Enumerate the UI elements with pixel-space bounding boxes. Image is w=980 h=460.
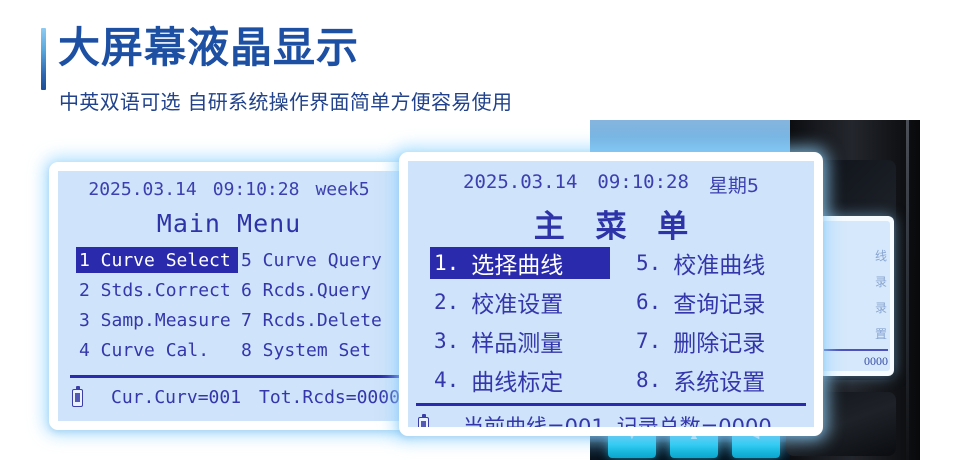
menu-item-label: 样品测量 [471, 324, 563, 358]
menu-item-label: 查询记录 [673, 285, 765, 319]
menu-item-number: 7. [636, 329, 661, 353]
promo-banner: 大屏幕液晶显示 中英双语可选 自研系统操作界面简单方便容易使用 ▼ ▲ ◄ 测定… [0, 0, 980, 460]
menu-item-label: 校准设置 [471, 285, 563, 319]
lcd-cn-total-records: 记录总数=0000 [617, 411, 772, 427]
background-lcd-area: 线 录 录 置 0000 [822, 221, 890, 371]
background-lcd-screen: 线 录 录 置 0000 [818, 216, 894, 376]
lcd-en-menu-row: 3 Samp.Measure 7 Rcds.Delete [58, 307, 400, 337]
background-lcd-line-4: 置 [875, 325, 887, 342]
lcd-cn-menu-row: 2. 校准设置 6. 查询记录 [408, 286, 814, 325]
lcd-display-area-english: 2025.03.14 09:10:28 week5 Main Menu 1 Cu… [58, 171, 400, 421]
menu-item-label: 曲线标定 [471, 363, 563, 397]
lcd-en-heading: Main Menu [58, 209, 400, 238]
lcd-en-statusbar: 2025.03.14 09:10:28 week5 [58, 179, 400, 200]
lcd-en-date: 2025.03.14 [88, 179, 196, 200]
battery-icon [72, 389, 83, 407]
menu-item-number: 5. [636, 251, 661, 275]
lcd-cn-menu-row: 4. 曲线标定 8. 系统设置 [408, 364, 814, 403]
lcd-en-menu: 1 Curve Select 5 Curve Query 2 Stds.Corr… [58, 247, 400, 367]
menu-item-select-curve[interactable]: 1. 选择曲线 [430, 247, 610, 279]
background-lcd-divider [824, 349, 888, 351]
lcd-en-menu-row: 2 Stds.Correct 6 Rcds.Query [58, 277, 400, 307]
lcd-cn-menu-row: 1. 选择曲线 5. 校准曲线 [408, 247, 814, 286]
menu-item-label: 删除记录 [673, 324, 765, 358]
lcd-display-area-chinese: 2025.03.14 09:10:28 星期5 主 菜 单 1. 选择曲线 5.… [408, 161, 814, 427]
lcd-cn-menu-row: 3. 样品测量 7. 删除记录 [408, 325, 814, 364]
menu-item-number: 6. [636, 290, 661, 314]
menu-item-calibration-setting[interactable]: 2. 校准设置 [430, 286, 610, 318]
menu-item-curve-calibration[interactable]: 4. 曲线标定 [430, 364, 610, 396]
menu-item-number: 4. [434, 368, 459, 392]
menu-item-system-setting[interactable]: 8. 系统设置 [632, 364, 812, 396]
lcd-screen-english: 2025.03.14 09:10:28 week5 Main Menu 1 Cu… [49, 162, 409, 430]
instrument-edge-highlight [906, 120, 909, 460]
header: 大屏幕液晶显示 中英双语可选 自研系统操作界面简单方便容易使用 [0, 0, 700, 130]
menu-item-sample-measure[interactable]: 3. 样品测量 [430, 325, 610, 357]
lcd-en-weekday: week5 [315, 179, 369, 200]
menu-item-rcds-query[interactable]: 6 Rcds.Query [238, 277, 400, 303]
lcd-cn-heading: 主 菜 单 [408, 201, 814, 246]
menu-item-curve-cal[interactable]: 4 Curve Cal. [76, 337, 238, 363]
lcd-cn-footer: 当前曲线=001 记录总数=0000 [418, 411, 772, 427]
menu-item-delete-records[interactable]: 7. 删除记录 [632, 325, 812, 357]
menu-item-label: 校准曲线 [673, 246, 765, 280]
menu-item-label: 系统设置 [673, 363, 765, 397]
lcd-en-time: 09:10:28 [213, 179, 300, 200]
page-title: 大屏幕液晶显示 [58, 22, 359, 73]
lcd-en-menu-row: 4 Curve Cal. 8 System Set [58, 337, 400, 367]
menu-item-number: 8. [636, 368, 661, 392]
lcd-en-current-curve: Cur.Curv=001 [111, 387, 241, 408]
lcd-cn-statusbar: 2025.03.14 09:10:28 星期5 [408, 171, 814, 198]
menu-item-query-records[interactable]: 6. 查询记录 [632, 286, 812, 318]
menu-item-calibration-curve[interactable]: 5. 校准曲线 [632, 247, 812, 279]
lcd-cn-current-curve: 当前曲线=001 [463, 411, 605, 427]
lcd-en-footer: Cur.Curv=001 Tot.Rcds=0000 [72, 387, 400, 408]
menu-item-curve-select[interactable]: 1 Curve Select [76, 247, 238, 273]
battery-icon [418, 417, 429, 427]
menu-item-number: 1. [434, 251, 459, 275]
menu-item-system-set[interactable]: 8 System Set [238, 337, 400, 363]
menu-item-number: 2. [434, 290, 459, 314]
menu-item-rcds-delete[interactable]: 7 Rcds.Delete [238, 307, 400, 333]
lcd-screen-chinese: 2025.03.14 09:10:28 星期5 主 菜 单 1. 选择曲线 5.… [399, 152, 823, 436]
page-subtitle: 中英双语可选 自研系统操作界面简单方便容易使用 [59, 86, 512, 115]
lcd-cn-weekday: 星期5 [709, 171, 759, 198]
background-lcd-line-1: 线 [875, 247, 887, 264]
menu-item-samp-measure[interactable]: 3 Samp.Measure [76, 307, 238, 333]
background-lcd-line-2: 录 [875, 273, 887, 290]
menu-item-label: 选择曲线 [471, 246, 563, 280]
lcd-cn-menu: 1. 选择曲线 5. 校准曲线 2. 校准设置 6. 查询记录 [408, 247, 814, 403]
lcd-en-menu-row: 1 Curve Select 5 Curve Query [58, 247, 400, 277]
background-lcd-status: 0000 [864, 354, 888, 369]
menu-item-number: 3. [434, 329, 459, 353]
lcd-cn-divider [416, 403, 806, 406]
lcd-cn-time: 09:10:28 [597, 171, 689, 198]
lcd-en-total-records: Tot.Rcds=0000 [259, 387, 400, 408]
menu-item-stds-correct[interactable]: 2 Stds.Correct [76, 277, 238, 303]
background-lcd-line-3: 录 [875, 299, 887, 316]
lcd-en-divider [70, 375, 400, 378]
lcd-cn-date: 2025.03.14 [463, 171, 577, 198]
title-accent-bar [41, 28, 46, 90]
menu-item-curve-query[interactable]: 5 Curve Query [238, 247, 400, 273]
